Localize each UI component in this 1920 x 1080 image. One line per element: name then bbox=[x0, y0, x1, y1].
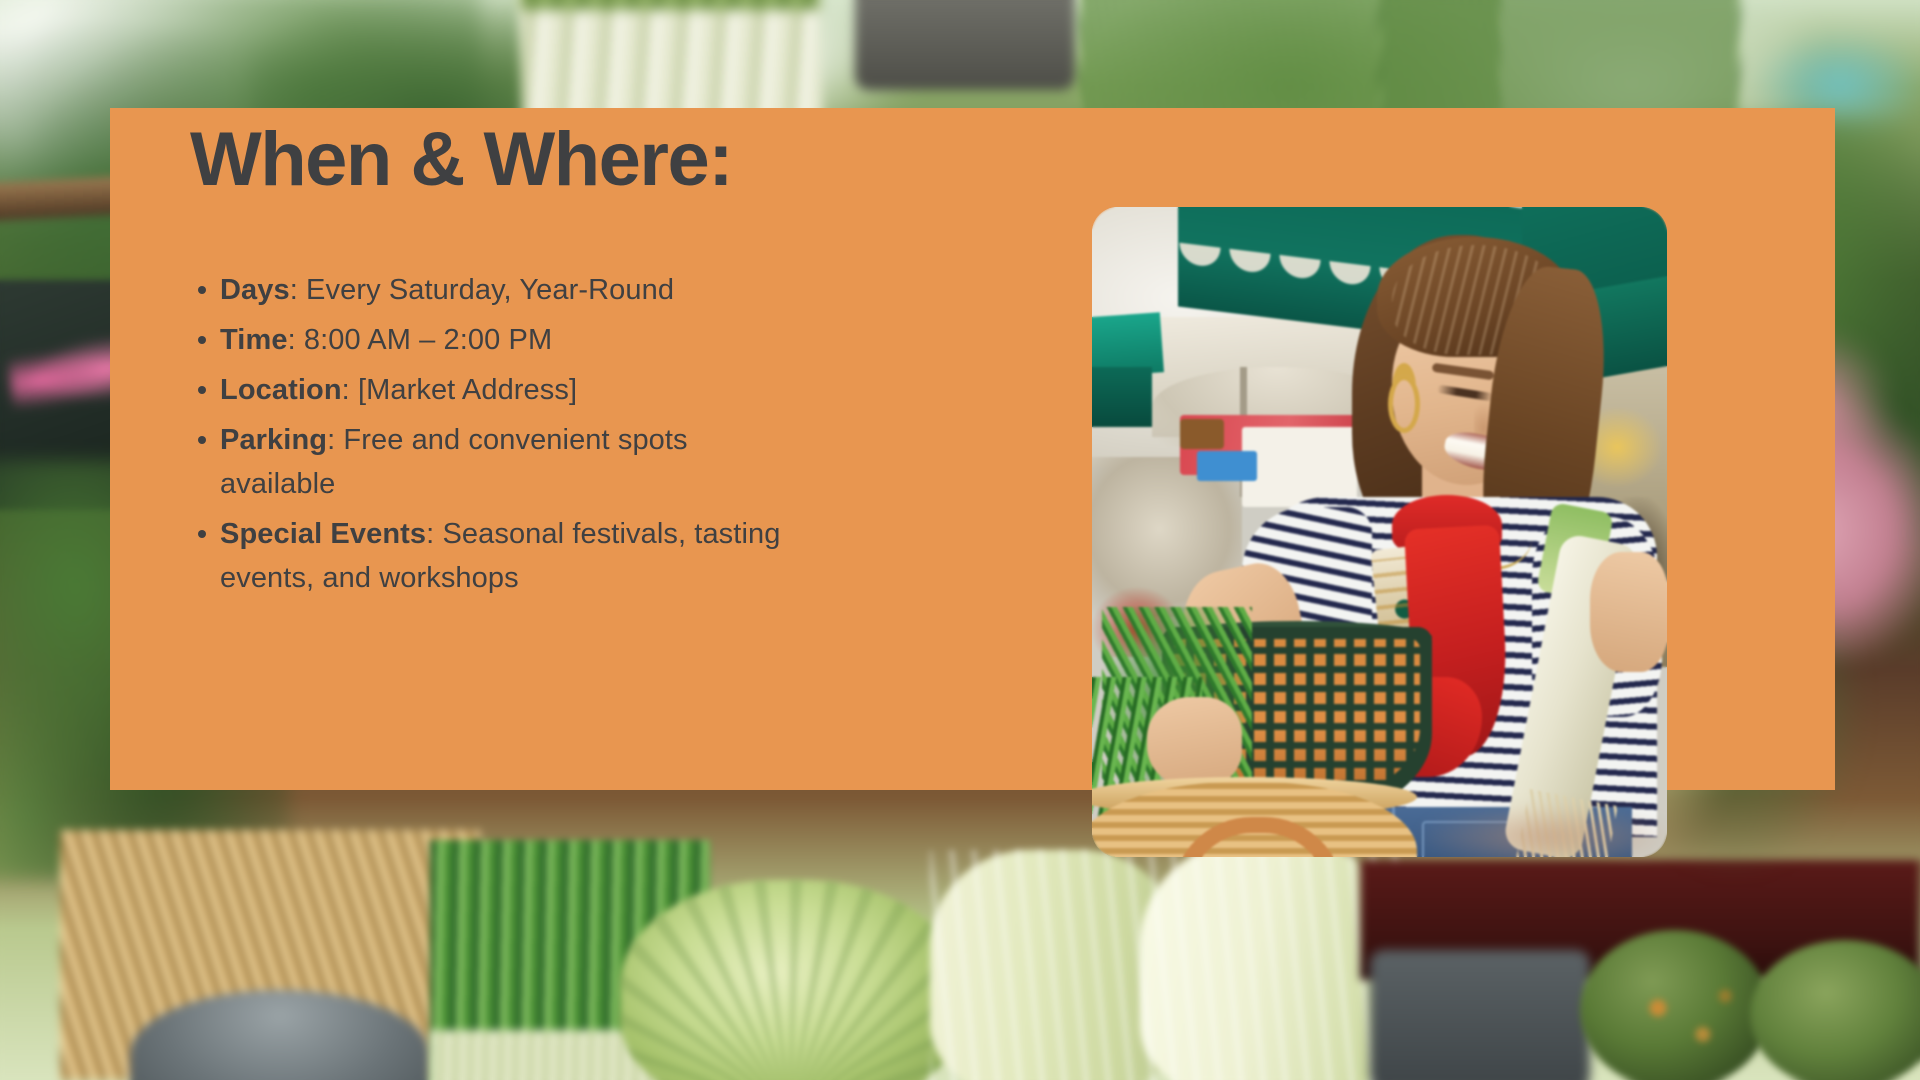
list-item-days-text: : Every Saturday, Year-Round bbox=[290, 274, 674, 306]
list-item-parking-label: Parking bbox=[220, 424, 327, 456]
details-bullet-list: Days: Every Saturday, Year-Round Time: 8… bbox=[190, 268, 810, 601]
page-title: When & Where: bbox=[190, 122, 850, 198]
list-item-days-label: Days bbox=[220, 274, 290, 306]
list-item-location-text: : [Market Address] bbox=[342, 374, 578, 406]
list-item-time: Time: 8:00 AM – 2:00 PM bbox=[190, 318, 810, 362]
list-item-special-events: Special Events: Seasonal festivals, tast… bbox=[190, 512, 810, 600]
text-column: When & Where: Days: Every Saturday, Year… bbox=[190, 122, 850, 607]
list-item-parking: Parking: Free and convenient spots avail… bbox=[190, 418, 810, 506]
list-item-days: Days: Every Saturday, Year-Round bbox=[190, 268, 810, 312]
list-item-location: Location: [Market Address] bbox=[190, 368, 810, 412]
list-item-time-label: Time bbox=[220, 324, 288, 356]
list-item-time-text: : 8:00 AM – 2:00 PM bbox=[288, 324, 553, 356]
list-item-special-events-label: Special Events bbox=[220, 518, 426, 550]
list-item-location-label: Location bbox=[220, 374, 342, 406]
market-shopper-photo bbox=[1092, 207, 1667, 857]
photo-softening-overlay bbox=[1092, 207, 1667, 857]
